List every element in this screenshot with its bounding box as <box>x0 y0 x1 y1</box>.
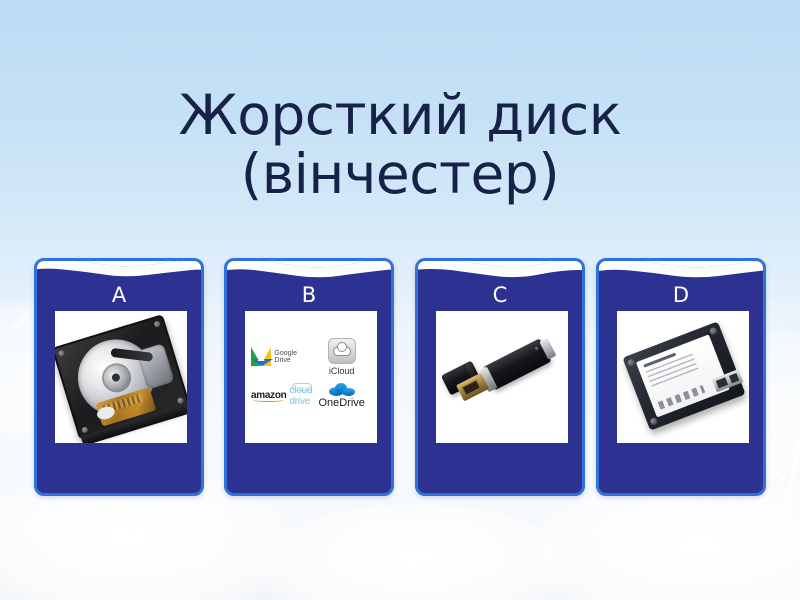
usb-stick <box>468 338 551 397</box>
solid-state-drive-image <box>617 311 749 443</box>
cloud-icon <box>333 346 351 356</box>
snow-drift <box>520 480 800 600</box>
page-title: Жорсткий диск (вінчестер) <box>0 86 800 204</box>
cloud-icon <box>292 383 312 391</box>
snow-drift <box>250 505 580 600</box>
title-line-1: Жорсткий диск <box>178 83 621 147</box>
frost-leaf <box>11 312 32 331</box>
title-line-2: (вінчестер) <box>0 145 800 204</box>
answer-letter-c: C <box>418 283 582 307</box>
ssd-illustration <box>622 321 745 430</box>
amazon-cloud-drive-label: cloud drive <box>289 385 312 407</box>
usb-illustration <box>436 311 568 443</box>
snow-cap-icon <box>596 258 766 280</box>
hard-disk-drive-image <box>55 311 187 443</box>
snow-cap-icon <box>224 258 394 280</box>
frost-grass <box>0 363 9 491</box>
answer-card-b[interactable]: B Google Drive <box>224 258 394 496</box>
answer-letter-b: B <box>227 283 391 307</box>
amazon-wordmark: amazon <box>251 390 286 401</box>
snow-cap-icon <box>415 258 585 280</box>
frost-leaf <box>736 517 759 530</box>
google-drive-label: Google Drive <box>274 350 312 364</box>
answer-card-c[interactable]: C <box>415 258 585 496</box>
frost-grass <box>0 338 21 450</box>
onedrive-label: OneDrive <box>318 397 364 409</box>
answer-letter-a: A <box>37 283 201 307</box>
onedrive-cloud-icon <box>329 383 355 396</box>
frost-grass <box>772 408 800 565</box>
answer-card-a[interactable]: A <box>34 258 204 496</box>
hdd-spindle-hub <box>100 362 131 393</box>
icloud-app-icon <box>328 338 356 364</box>
icloud-label: iCloud <box>329 366 355 376</box>
cloud-storage-logos-image: Google Drive iCloud amazon <box>245 311 377 443</box>
answer-card-d[interactable]: D <box>596 258 766 496</box>
frost-leaf <box>767 463 787 483</box>
answer-options: A <box>34 258 766 498</box>
answer-letter-d: D <box>599 283 763 307</box>
google-drive-logo: Google Drive <box>251 347 312 366</box>
quiz-slide: Жорсткий диск (вінчестер) A <box>0 0 800 600</box>
hdd-illustration <box>55 314 187 440</box>
onedrive-logo: OneDrive <box>318 383 364 409</box>
snow-cap-icon <box>34 258 204 280</box>
icloud-logo: iCloud <box>328 338 356 376</box>
google-drive-triangle-icon <box>251 347 271 366</box>
ssd-label-text-lines <box>646 353 699 388</box>
usb-flash-drive-image <box>436 311 568 443</box>
frost-leaf <box>666 498 685 519</box>
amazon-cloud-drive-logo: amazon cloud drive <box>251 385 312 407</box>
